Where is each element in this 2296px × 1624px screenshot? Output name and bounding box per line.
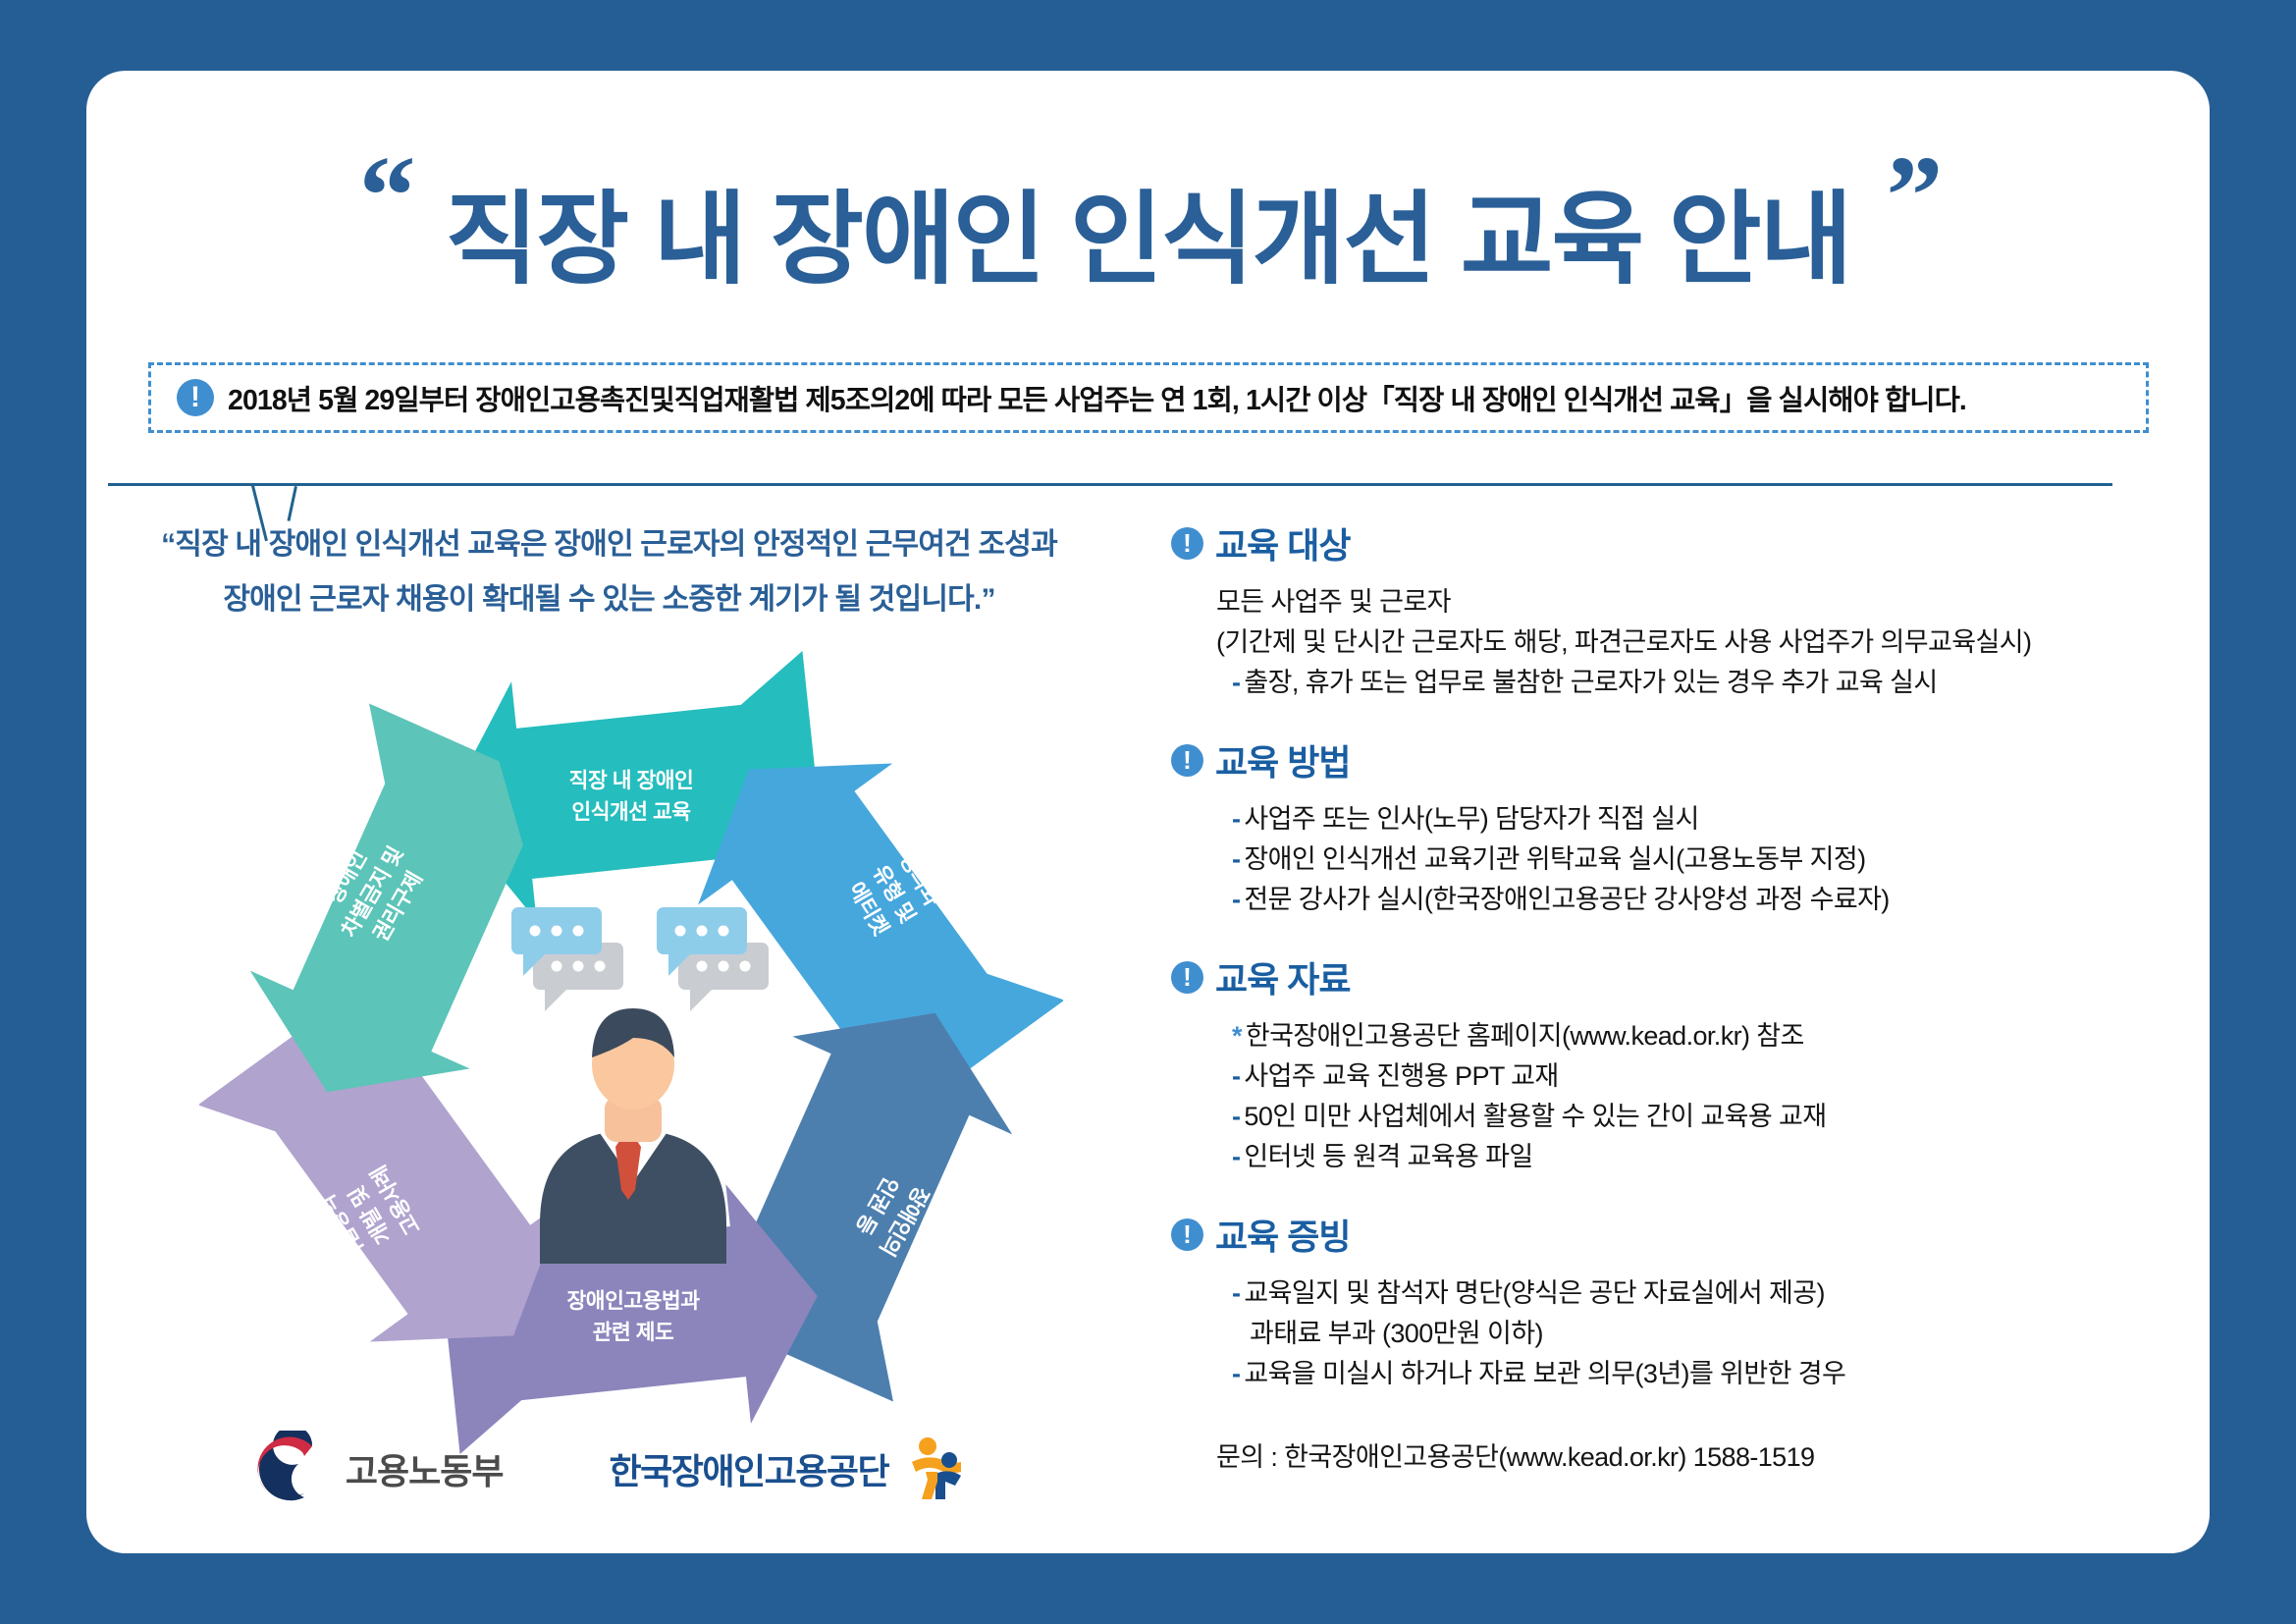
section-target-title: 교육 대상 — [1215, 517, 1350, 568]
cycle-diagram: 직장 내 장애인 인식개선 교육 장애의 정의와 유형 및 에티켓 직장 내 장… — [199, 650, 1063, 1455]
list-item: (기간제 및 단시간 근로자도 해당, 파견근로자도 사용 사업주가 의무교육실… — [1216, 623, 2192, 663]
contact-line: 문의 : 한국장애인고용공단(www.kead.or.kr) 1588-1519 — [1171, 1435, 2192, 1474]
section-materials: ! 교육 자료 *한국장애인고용공단 홈페이지(www.kead.or.kr) … — [1171, 951, 2192, 1177]
quote-line-1: “직장 내 장애인 인식개선 교육은 장애인 근로자의 안정적인 근무여건 조성… — [112, 517, 1106, 572]
list-item: -교육일지 및 참석자 명단(양식은 공단 자료실에서 제공) — [1216, 1273, 2192, 1314]
section-evidence-title: 교육 증빙 — [1215, 1209, 1350, 1260]
exclamation-icon: ! — [177, 379, 214, 416]
arrow-employment-law-line-1: 장애인고용법과 — [567, 1289, 701, 1313]
molab-logo: 고용노동부 — [251, 1431, 504, 1507]
page-title: 직장 내 장애인 인식개선 교육 안내 — [446, 157, 1851, 303]
right-column: ! 교육 대상 모든 사업주 및 근로자 (기간제 및 단시간 근로자도 해당,… — [1171, 517, 2192, 1474]
bullet-dash: - — [1232, 1102, 1240, 1131]
list-item: -사업주 교육 진행용 PPT 교재 — [1216, 1056, 2192, 1097]
section-evidence-body: -교육일지 및 참석자 명단(양식은 공단 자료실에서 제공) 과태료 부과 (… — [1171, 1273, 2192, 1394]
list-item: 과태료 부과 (300만원 이하) — [1216, 1314, 2192, 1354]
list-item: -50인 미만 사업체에서 활용할 수 있는 간이 교육용 교재 — [1216, 1097, 2192, 1137]
molab-logo-text: 고용노동부 — [346, 1443, 504, 1494]
exclamation-icon: ! — [1171, 1218, 1203, 1251]
exclamation-icon: ! — [1171, 961, 1203, 994]
open-quote-icon: “ — [359, 163, 410, 232]
list-item: -사업주 또는 인사(노무) 담당자가 직접 실시 — [1216, 799, 2192, 839]
divider — [108, 483, 2112, 486]
kead-logo-text: 한국장애인고용공단 — [610, 1443, 889, 1494]
list-item: *한국장애인고용공단 홈페이지(www.kead.or.kr) 참조 — [1216, 1016, 2192, 1056]
exclamation-icon: ! — [1171, 527, 1203, 560]
taegeuk-swirl-icon — [251, 1431, 328, 1507]
section-evidence-header: ! 교육 증빙 — [1171, 1209, 2192, 1260]
left-column: “직장 내 장애인 인식개선 교육은 장애인 근로자의 안정적인 근무여건 조성… — [86, 517, 1132, 626]
notice-banner: ! 2018년 5월 29일부터 장애인고용촉진및직업재활법 제5조의2에 따라… — [148, 362, 2149, 433]
poster-header: “ 직장 내 장애인 인식개선 교육 안내 ” — [86, 157, 2210, 303]
list-item: -교육을 미실시 하거나 자료 보관 의무(3년)를 위반한 경우 — [1216, 1354, 2192, 1394]
section-materials-body: *한국장애인고용공단 홈페이지(www.kead.or.kr) 참조 -사업주 … — [1171, 1016, 2192, 1177]
bullet-dash: - — [1232, 804, 1240, 834]
bullet-dash: - — [1232, 844, 1240, 874]
notice-text: 2018년 5월 29일부터 장애인고용촉진및직업재활법 제5조의2에 따라 모… — [228, 378, 1966, 418]
section-target-body: 모든 사업주 및 근로자 (기간제 및 단시간 근로자도 해당, 파견근로자도 … — [1171, 582, 2192, 703]
exclamation-icon: ! — [1171, 744, 1203, 777]
logo-row: 고용노동부 한국장애인고용공단 — [86, 1431, 1132, 1507]
section-evidence: ! 교육 증빙 -교육일지 및 참석자 명단(양식은 공단 자료실에서 제공) … — [1171, 1209, 2192, 1394]
bullet-star: * — [1232, 1021, 1242, 1051]
section-target: ! 교육 대상 모든 사업주 및 근로자 (기간제 및 단시간 근로자도 해당,… — [1171, 517, 2192, 703]
close-quote-icon: ” — [1886, 163, 1937, 232]
bullet-dash: - — [1232, 885, 1240, 914]
section-method: ! 교육 방법 -사업주 또는 인사(노무) 담당자가 직접 실시 -장애인 인… — [1171, 734, 2192, 920]
list-item: -인터넷 등 원격 교육용 파일 — [1216, 1137, 2192, 1177]
bullet-dash: - — [1232, 1278, 1240, 1308]
section-target-header: ! 교육 대상 — [1171, 517, 2192, 568]
section-materials-title: 교육 자료 — [1215, 951, 1350, 1002]
list-item: -출장, 휴가 또는 업무로 불참한 근로자가 있는 경우 추가 교육 실시 — [1216, 663, 2192, 703]
section-method-body: -사업주 또는 인사(노무) 담당자가 직접 실시 -장애인 인식개선 교육기관… — [1171, 799, 2192, 920]
arrow-employment-law-line-2: 관련 제도 — [593, 1321, 674, 1344]
section-materials-header: ! 교육 자료 — [1171, 951, 2192, 1002]
poster-card: “ 직장 내 장애인 인식개선 교육 안내 ” ! 2018년 5월 29일부터… — [86, 71, 2210, 1553]
section-method-header: ! 교육 방법 — [1171, 734, 2192, 785]
arrow-education-line-2: 인식개선 교육 — [571, 800, 691, 824]
kead-figure-icon — [906, 1436, 967, 1501]
businessman-avatar — [540, 1008, 726, 1264]
quote-line-2: 장애인 근로자 채용이 확대될 수 있는 소중한 계기가 될 것입니다.” — [112, 572, 1106, 627]
bullet-dash: - — [1232, 1142, 1240, 1171]
list-item: -장애인 인식개선 교육기관 위탁교육 실시(고용노동부 지정) — [1216, 839, 2192, 880]
list-item: 모든 사업주 및 근로자 — [1216, 582, 2192, 623]
bullet-dash: - — [1232, 1359, 1240, 1388]
kead-logo: 한국장애인고용공단 — [610, 1436, 968, 1501]
bullet-dash: - — [1232, 1061, 1240, 1091]
quote-block: “직장 내 장애인 인식개선 교육은 장애인 근로자의 안정적인 근무여건 조성… — [86, 517, 1132, 626]
section-method-title: 교육 방법 — [1215, 734, 1350, 785]
bullet-dash: - — [1232, 668, 1240, 697]
arrow-education-line-1: 직장 내 장애인 — [569, 769, 694, 792]
list-item: -전문 강사가 실시(한국장애인고용공단 강사양성 과정 수료자) — [1216, 880, 2192, 920]
